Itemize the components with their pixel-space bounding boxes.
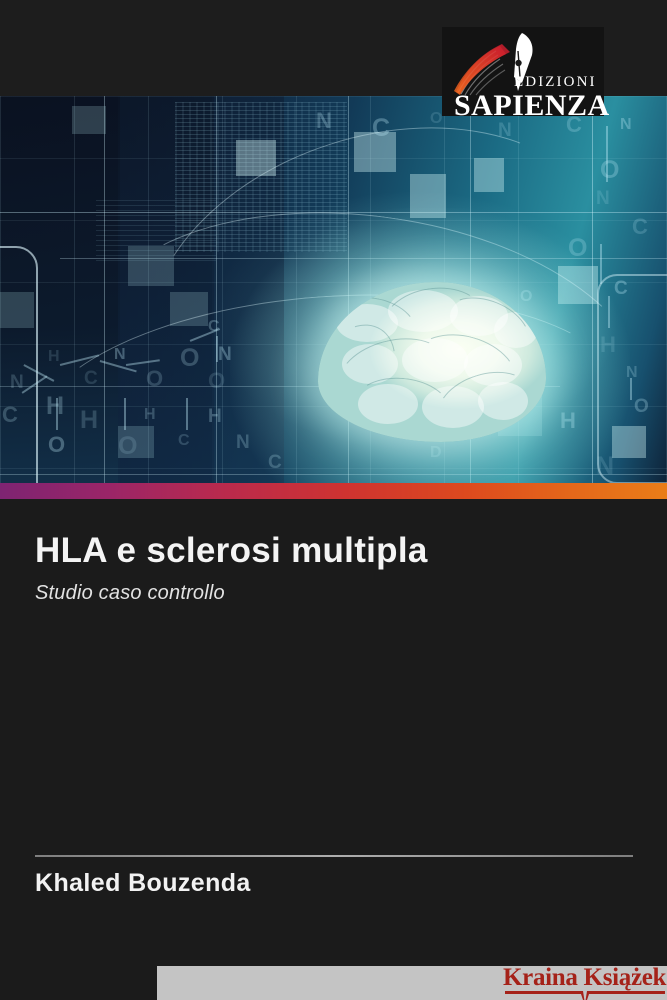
chem-letter: H: [208, 406, 223, 428]
chem-bond: [124, 398, 126, 430]
chem-letter: H: [80, 406, 99, 435]
chem-letter: O: [146, 366, 164, 392]
deco-square-1: [72, 106, 106, 134]
chem-letter: O: [180, 344, 200, 373]
book-cover: HNCHNCOOCNOHHHOOCNNCONCONNCOOCHONOHNDC: [0, 0, 667, 1000]
accent-gradient-band: [0, 483, 667, 499]
open-book-underline-icon: [505, 990, 665, 1000]
chem-letter: N: [498, 120, 513, 142]
cover-artwork: HNCHNCOOCNOHHHOOCNNCONCONNCOOCHONOHNDC: [0, 96, 667, 483]
chem-letter: H: [48, 348, 61, 366]
chem-letter: O: [48, 432, 66, 458]
chem-letter: C: [2, 402, 19, 428]
chem-letter: N: [10, 372, 25, 394]
chem-letter: H: [144, 406, 157, 424]
book-title: HLA e sclerosi multipla: [35, 531, 635, 571]
brain-illustration: [300, 268, 560, 468]
author-divider: [35, 855, 633, 857]
chem-letter: C: [178, 432, 191, 450]
chem-letter: C: [632, 214, 649, 240]
publisher-name-label: SAPIENZA: [454, 89, 610, 123]
chem-bond: [186, 398, 188, 430]
chem-letter: H: [46, 392, 65, 421]
book-subtitle: Studio caso controllo: [35, 582, 635, 605]
chem-letter: C: [208, 318, 221, 336]
book-author: Khaled Bouzenda: [35, 869, 635, 898]
chem-letter: O: [600, 156, 620, 185]
chem-letter: C: [372, 114, 391, 143]
publisher-logo: EDIZIONI SAPIENZA: [442, 27, 604, 116]
watermark-text: Kraina Książek: [503, 964, 666, 992]
cover-text-area: HLA e sclerosi multipla Studio caso cont…: [0, 499, 667, 1000]
chem-letter: N: [596, 188, 611, 210]
chem-letter: O: [208, 368, 226, 394]
chem-letter: O: [118, 432, 138, 461]
watermark: Kraina Książek: [503, 964, 667, 1000]
chem-letter: N: [316, 108, 333, 134]
chem-letter: O: [634, 396, 650, 418]
chem-letter: N: [620, 116, 633, 134]
chem-letter: N: [114, 346, 127, 364]
chem-letter: C: [84, 368, 99, 390]
deco-square-11: [0, 292, 34, 328]
